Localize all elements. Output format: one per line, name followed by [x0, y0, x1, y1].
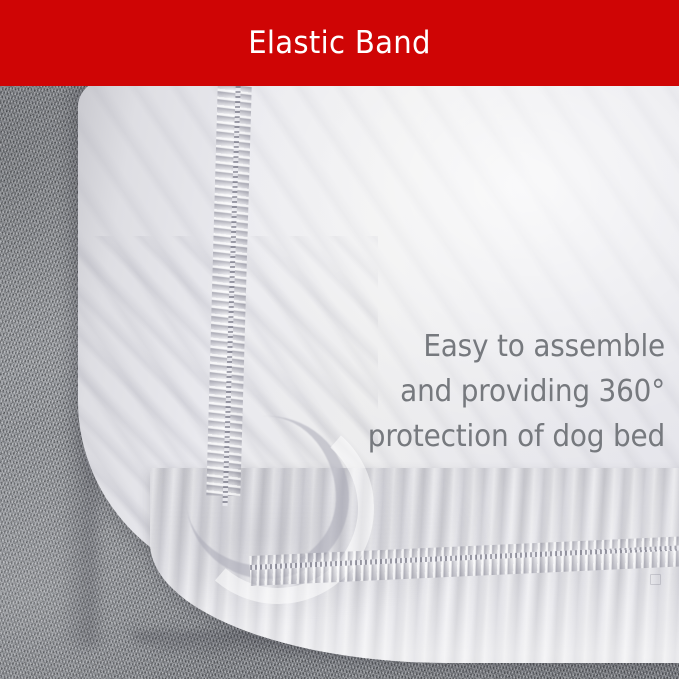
- caption-line-1: Easy to assemble: [274, 324, 665, 369]
- caption-line-3: protection of dog bed: [274, 414, 665, 459]
- product-photo: Easy to assemble and providing 360° prot…: [0, 86, 679, 679]
- header-title: Elastic Band: [20, 0, 658, 86]
- caption-block: Easy to assemble and providing 360° prot…: [274, 324, 665, 459]
- fabric-mark: [650, 574, 661, 585]
- product-feature-image: Elastic Band Easy to assemble and provid…: [0, 0, 679, 679]
- caption-line-2: and providing 360°: [274, 369, 665, 414]
